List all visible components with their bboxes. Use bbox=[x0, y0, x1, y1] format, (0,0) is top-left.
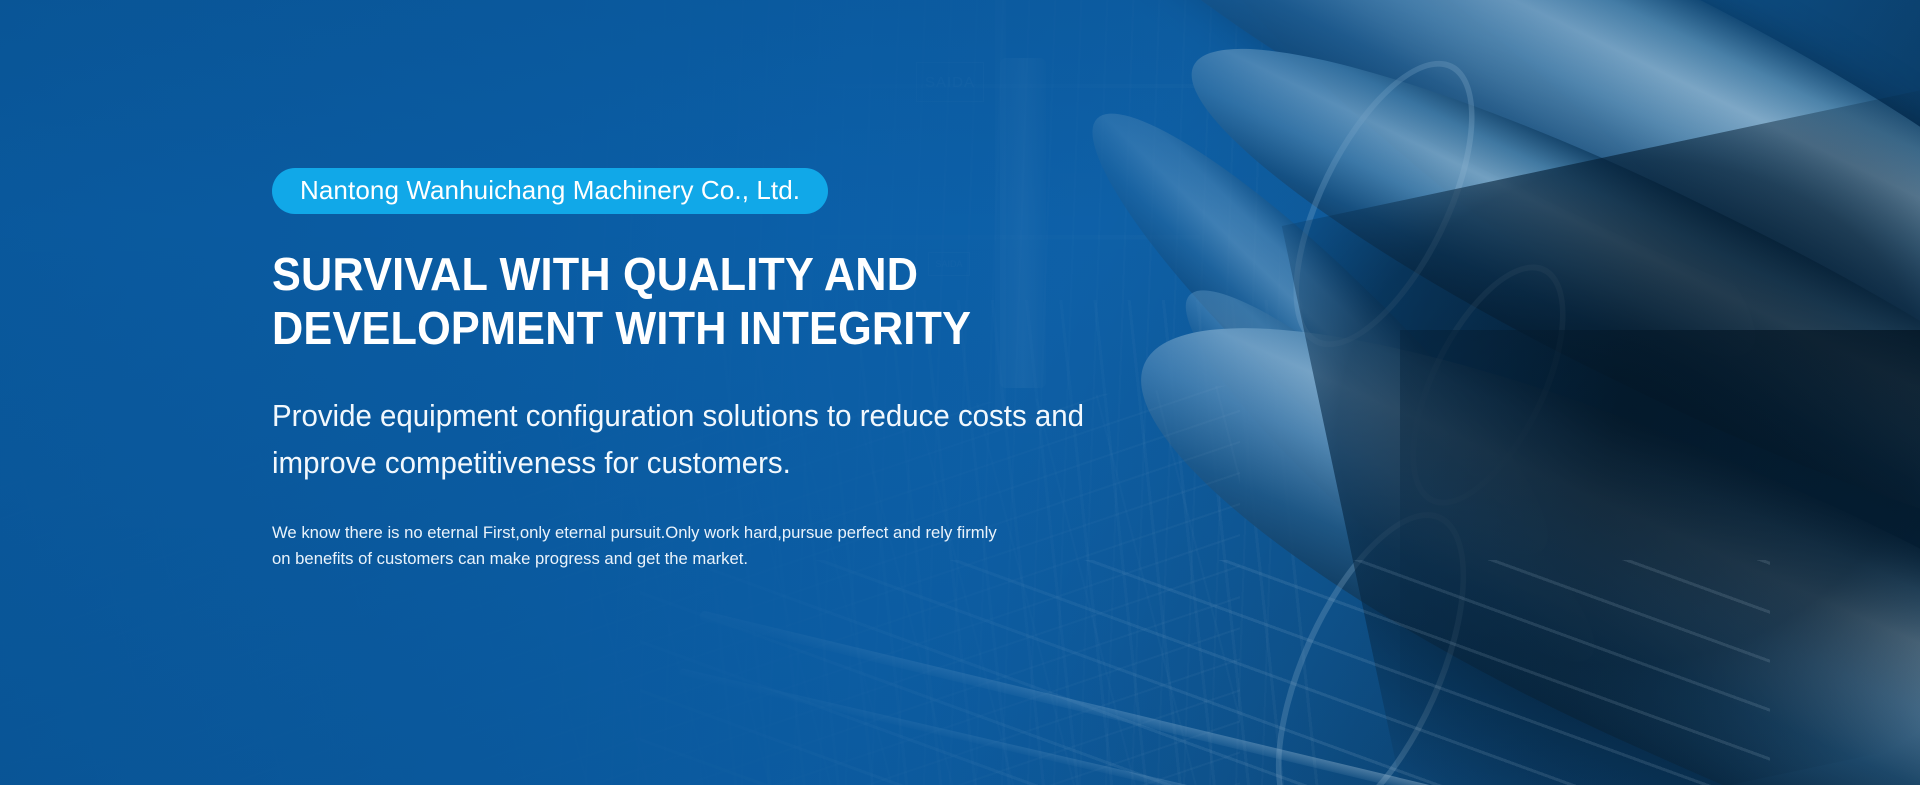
company-name-badge: Nantong Wanhuichang Machinery Co., Ltd. bbox=[272, 168, 828, 214]
hero-subheadline: Provide equipment configuration solution… bbox=[272, 392, 1279, 486]
hero-body-text: We know there is no eternal First,only e… bbox=[272, 520, 1237, 573]
page-title: SURVIVAL WITH QUALITY AND DEVELOPMENT WI… bbox=[272, 248, 1268, 356]
hero-body-line-2: on benefits of customers can make progre… bbox=[272, 546, 1237, 572]
hero-banner: SAIDA SAIDA Nantong Wanhuichang Machiner… bbox=[0, 0, 1920, 785]
hero-body-line-1: We know there is no eternal First,only e… bbox=[272, 523, 997, 542]
hero-content: Nantong Wanhuichang Machinery Co., Ltd. … bbox=[272, 168, 1332, 573]
